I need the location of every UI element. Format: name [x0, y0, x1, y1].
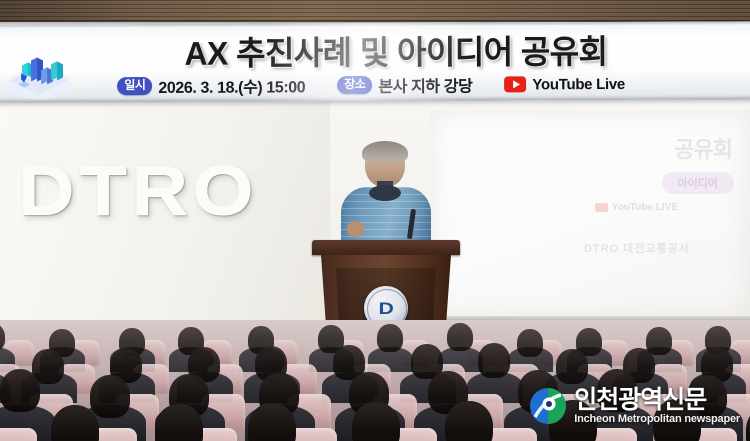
- emblem-letter: D: [378, 300, 393, 317]
- audience-member-head: [445, 401, 493, 441]
- audience-member-head: [517, 329, 543, 357]
- audience-member-head: [556, 349, 588, 384]
- audience-member-head: [377, 324, 403, 352]
- speaker-collar: [369, 185, 401, 201]
- place-value: 본사 지하 강당: [378, 73, 472, 97]
- audience-member-head: [352, 402, 400, 441]
- watermark-english: Incheon Metropolitan newspaper: [574, 414, 740, 425]
- audience-member-head: [646, 327, 672, 355]
- audience-member-head: [0, 369, 40, 412]
- banner-youtube-group: YouTube Live: [504, 75, 625, 93]
- podium-top-surface: [312, 240, 460, 255]
- place-badge: 장소: [337, 76, 372, 94]
- screen-pill-text: 아이디어: [662, 172, 734, 194]
- auditorium-seat: [0, 428, 37, 441]
- date-badge: 일시: [117, 77, 152, 95]
- event-banner: AX 추진사례 및 아이디어 공유회 일시 2026. 3. 18.(수) 15…: [0, 21, 750, 102]
- audience-member-head: [447, 323, 473, 351]
- banner-date-group: 일시 2026. 3. 18.(수) 15:00: [117, 73, 305, 98]
- banner-place-group: 장소 본사 지하 강당: [337, 73, 472, 98]
- incheon-newspaper-logo-icon: [529, 387, 567, 425]
- watermark-korean: 인천광역신문: [574, 388, 740, 413]
- ceiling-wood-slats: [0, 0, 750, 22]
- youtube-label: YouTube Live: [532, 75, 625, 92]
- newspaper-watermark: 인천광역신문 Incheon Metropolitan newspaper: [529, 381, 740, 431]
- screen-youtube-label: YouTube LIVE: [612, 202, 678, 213]
- watermark-text-block: 인천광역신문 Incheon Metropolitan newspaper: [574, 388, 740, 425]
- banner-title: AX 추진사례 및 아이디어 공유회: [76, 25, 716, 76]
- speaker-hair: [362, 141, 408, 165]
- screen-youtube-live: YouTube LIVE: [595, 202, 678, 213]
- audience-member-head: [478, 343, 510, 378]
- speaker-hand: [347, 221, 364, 237]
- screen-title-text: 공유회: [674, 132, 732, 164]
- youtube-play-icon: [504, 76, 526, 92]
- projection-screen: 공유회 아이디어 YouTube LIVE DTRO 대전교통공사: [430, 110, 750, 320]
- audience-member-head: [90, 375, 130, 418]
- screen-corp-logo: DTRO 대전교통공사: [584, 240, 690, 256]
- photo-scene: DTRO 공유회 아이디어 YouTube LIVE DTRO 대전교통공사 D: [0, 0, 750, 441]
- date-value: 2026. 3. 18.(수) 15:00: [158, 73, 305, 98]
- banner-subline: 일시 2026. 3. 18.(수) 15:00 장소 본사 지하 강당 You…: [0, 70, 746, 99]
- screen-youtube-icon: [595, 203, 608, 212]
